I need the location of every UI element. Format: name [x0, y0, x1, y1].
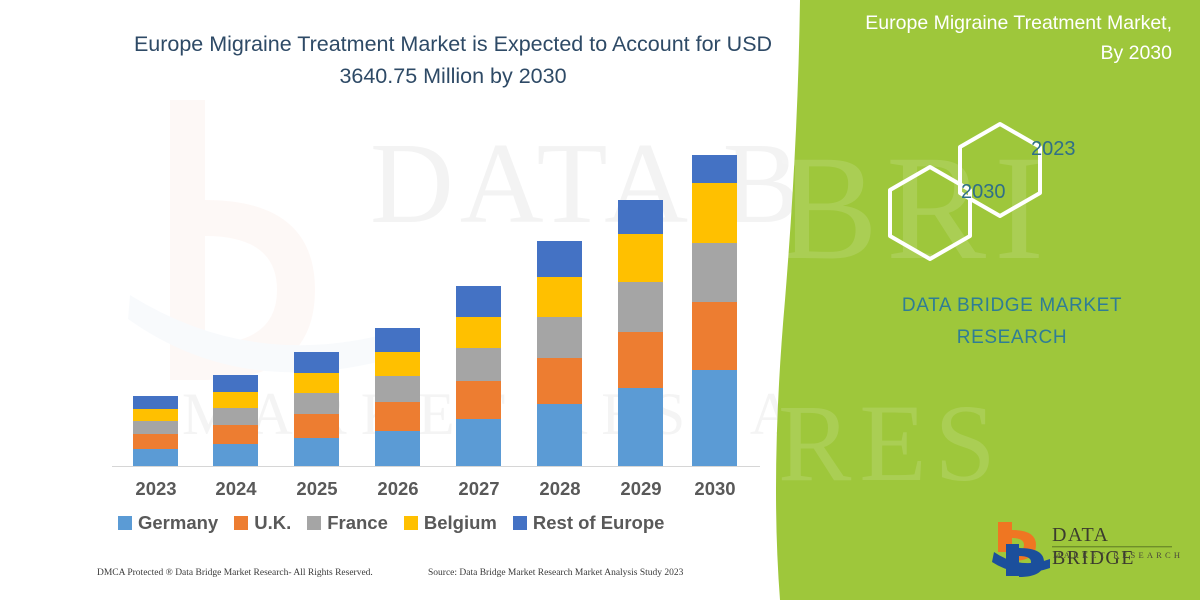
- logo-mark-icon: [990, 518, 1060, 580]
- x-axis-labels: 20232024202520262027202820292030: [112, 478, 760, 504]
- panel-title: Europe Migraine Treatment Market, By 203…: [840, 8, 1172, 68]
- legend-label: U.K.: [254, 512, 291, 534]
- bar-2027: [456, 286, 501, 466]
- bar-segment-2023-germany: [133, 449, 178, 466]
- bar-segment-2026-germany: [375, 431, 420, 466]
- bar-segment-2028-belgium: [537, 277, 582, 317]
- bar-segment-2030-germany: [692, 370, 737, 466]
- legend-item-belgium: Belgium: [404, 512, 497, 534]
- panel-brand-text: DATA BRIDGE MARKET RESEARCH: [862, 290, 1162, 354]
- x-axis-line: [112, 466, 760, 467]
- x-label-2027: 2027: [444, 478, 514, 500]
- bar-2023: [133, 396, 178, 466]
- infographic-canvas: DATA BRIDGE MARKET RESEARCH Europe Migra…: [0, 0, 1200, 600]
- legend-label: France: [327, 512, 388, 534]
- bar-2025: [294, 352, 339, 466]
- x-label-2023: 2023: [121, 478, 191, 500]
- bar-segment-2023-france: [133, 421, 178, 434]
- bar-segment-2027-germany: [456, 419, 501, 466]
- bar-segment-2024-u-k: [213, 425, 258, 444]
- bar-segment-2029-u-k: [618, 332, 663, 388]
- logo-underline: [1052, 546, 1172, 549]
- bar-2029: [618, 200, 663, 466]
- legend-item-rest-of-europe: Rest of Europe: [513, 512, 665, 534]
- bar-segment-2027-france: [456, 348, 501, 381]
- dmca-notice: DMCA Protected ® Data Bridge Market Rese…: [97, 568, 373, 578]
- hexagon-label-2023: 2023: [1031, 138, 1076, 161]
- bar-segment-2030-france: [692, 243, 737, 302]
- legend-label: Germany: [138, 512, 218, 534]
- x-label-2024: 2024: [201, 478, 271, 500]
- bar-segment-2025-belgium: [294, 373, 339, 393]
- bar-segment-2024-rest-of-europe: [213, 375, 258, 392]
- panel-watermark-top: BRI: [778, 122, 1052, 294]
- bar-segment-2028-france: [537, 317, 582, 358]
- source-notice: Source: Data Bridge Market Research Mark…: [428, 568, 683, 578]
- hexagon-label-2030: 2030: [961, 181, 1006, 204]
- bar-2024: [213, 375, 258, 466]
- bar-segment-2025-u-k: [294, 414, 339, 438]
- bar-segment-2026-france: [375, 376, 420, 402]
- bar-segment-2025-germany: [294, 438, 339, 466]
- bar-segment-2030-u-k: [692, 302, 737, 370]
- legend-swatch: [513, 516, 527, 530]
- bar-segment-2029-belgium: [618, 234, 663, 282]
- bar-segment-2027-u-k: [456, 381, 501, 419]
- chart-legend: GermanyU.K.FranceBelgiumRest of Europe: [118, 512, 664, 534]
- bar-segment-2025-rest-of-europe: [294, 352, 339, 373]
- bar-segment-2027-rest-of-europe: [456, 286, 501, 317]
- bar-segment-2030-belgium: [692, 183, 737, 243]
- legend-swatch: [404, 516, 418, 530]
- bar-segment-2028-u-k: [537, 358, 582, 404]
- legend-item-france: France: [307, 512, 388, 534]
- x-label-2030: 2030: [680, 478, 750, 500]
- bar-segment-2029-france: [618, 282, 663, 332]
- legend-swatch: [118, 516, 132, 530]
- bar-segment-2024-france: [213, 408, 258, 425]
- x-label-2025: 2025: [282, 478, 352, 500]
- x-label-2029: 2029: [606, 478, 676, 500]
- bar-segment-2023-belgium: [133, 409, 178, 421]
- data-bridge-logo: DATA BRIDGE MARKET RESEARCH: [990, 518, 1186, 580]
- panel-watermark-bottom: RES: [778, 380, 1004, 507]
- legend-label: Belgium: [424, 512, 497, 534]
- bar-segment-2029-germany: [618, 388, 663, 466]
- bar-segment-2026-rest-of-europe: [375, 328, 420, 352]
- legend-swatch: [307, 516, 321, 530]
- bar-2030: [692, 155, 737, 466]
- bar-segment-2030-rest-of-europe: [692, 155, 737, 183]
- bar-2026: [375, 328, 420, 466]
- footer: DMCA Protected ® Data Bridge Market Rese…: [0, 568, 800, 590]
- legend-label: Rest of Europe: [533, 512, 665, 534]
- bar-segment-2024-germany: [213, 444, 258, 466]
- bar-segment-2028-germany: [537, 404, 582, 466]
- bar-segment-2026-u-k: [375, 402, 420, 431]
- bar-segment-2025-france: [294, 393, 339, 414]
- bar-segment-2028-rest-of-europe: [537, 241, 582, 277]
- legend-item-u-k: U.K.: [234, 512, 291, 534]
- x-label-2026: 2026: [363, 478, 433, 500]
- x-label-2028: 2028: [525, 478, 595, 500]
- bar-segment-2026-belgium: [375, 352, 420, 376]
- bar-segment-2023-u-k: [133, 434, 178, 449]
- logo-subtitle: MARKET RESEARCH: [1053, 550, 1183, 560]
- legend-item-germany: Germany: [118, 512, 218, 534]
- bar-segment-2024-belgium: [213, 392, 258, 408]
- legend-swatch: [234, 516, 248, 530]
- bar-2028: [537, 241, 582, 466]
- bar-segment-2029-rest-of-europe: [618, 200, 663, 234]
- bar-segment-2027-belgium: [456, 317, 501, 348]
- stacked-bar-chart: 20232024202520262027202820292030: [0, 0, 800, 600]
- bar-segment-2023-rest-of-europe: [133, 396, 178, 409]
